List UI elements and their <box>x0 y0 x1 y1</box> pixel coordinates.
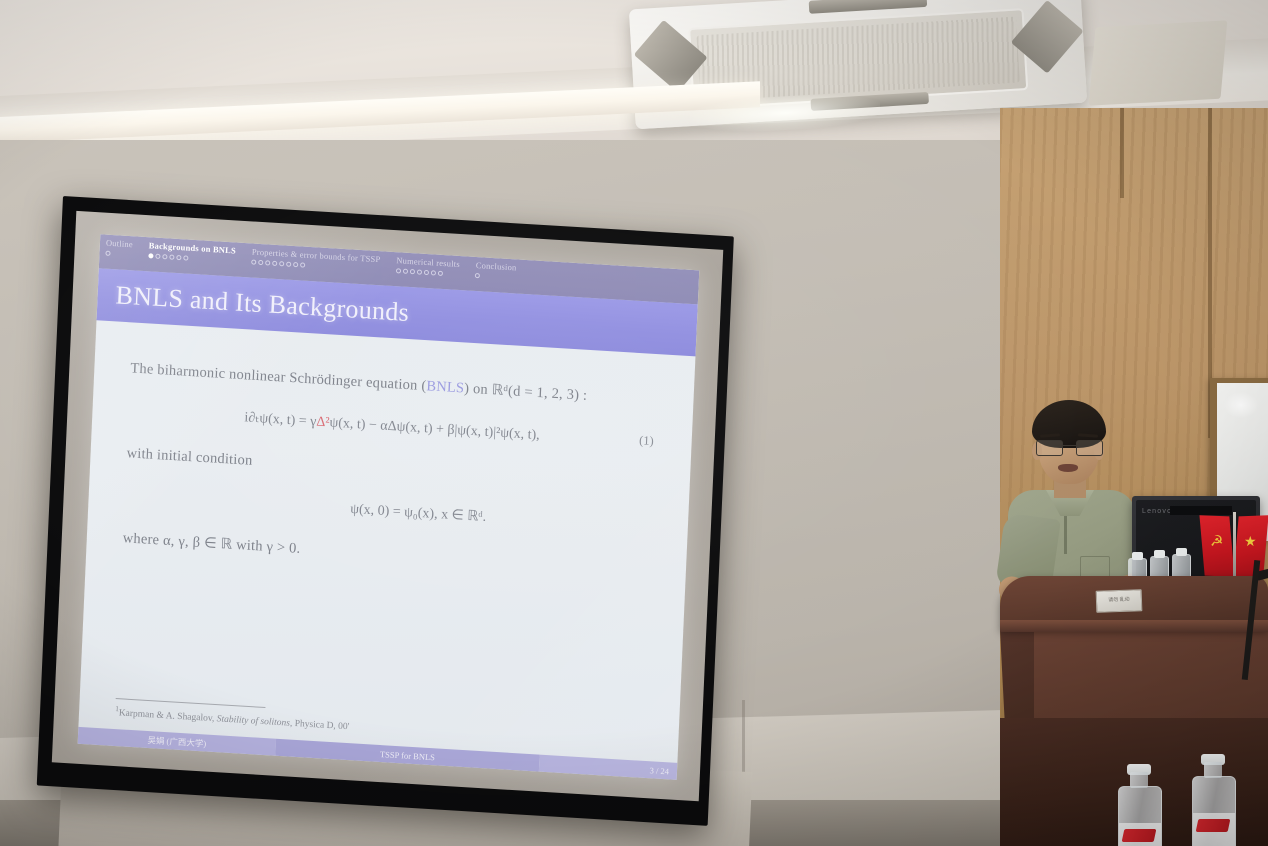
bottle-label <box>1193 813 1235 846</box>
nav-section-label: Conclusion <box>476 260 517 273</box>
hammer-sickle-icon: ☭ <box>1210 534 1223 549</box>
nav-dot[interactable] <box>300 262 305 267</box>
nav-dot[interactable] <box>293 262 298 267</box>
flag-pole <box>1233 512 1236 586</box>
nav-dot[interactable] <box>279 261 284 266</box>
nav-dot[interactable] <box>286 262 291 267</box>
bottle-body <box>1118 786 1162 846</box>
footnote-title: Stability of solitons <box>216 714 290 728</box>
nav-dot[interactable] <box>148 253 153 258</box>
nav-section-outline[interactable]: Outline <box>105 238 133 258</box>
star-icon: ★ <box>1244 534 1257 548</box>
laplacian-squared-highlight: Δ² <box>316 414 330 430</box>
equation-1-left: i∂ₜψ(x, t) = γ <box>244 410 317 429</box>
nav-dot[interactable] <box>396 268 401 273</box>
nav-dot[interactable] <box>417 269 422 274</box>
nav-dot[interactable] <box>431 270 436 275</box>
bottle-label <box>1119 823 1161 846</box>
podium-label-plate: 请勿 乱动 <box>1096 589 1143 613</box>
nav-section-label: Outline <box>106 238 133 251</box>
intro-sentence-post: ) on ℝᵈ(d = 1, 2, 3) : <box>464 380 588 403</box>
equation-1-number: (1) <box>639 433 654 449</box>
nav-dot[interactable] <box>251 259 256 264</box>
equation-1: i∂ₜψ(x, t) = γΔ²ψ(x, t) − αΔψ(x, t) + β|… <box>128 402 656 451</box>
nav-dot[interactable] <box>183 255 188 260</box>
presenter-mouth <box>1058 464 1078 472</box>
footnote-authors: Karpman & A. Shagalov, <box>119 708 215 724</box>
slide-body: The biharmonic nonlinear Schrödinger equ… <box>80 320 696 732</box>
nav-section-numerical[interactable]: Numerical results <box>396 255 460 277</box>
nav-section-conclusion[interactable]: Conclusion <box>475 260 516 280</box>
parameter-conditions: where α, γ, β ∈ ℝ with γ > 0. <box>122 528 650 582</box>
ceiling-access-panel <box>1089 20 1228 105</box>
footer-page-number: 3 / 24 <box>539 755 678 780</box>
equation-1-right: ψ(x, t) − αΔψ(x, t) + β|ψ(x, t)|²ψ(x, t)… <box>329 415 540 443</box>
wood-panel-seam <box>1120 108 1124 198</box>
eyeglasses-icon <box>1036 440 1102 454</box>
nav-dots <box>475 273 480 278</box>
nav-dot[interactable] <box>438 271 443 276</box>
initial-condition-label: with initial condition <box>126 443 654 497</box>
nav-section-backgrounds[interactable]: Backgrounds on BNLS <box>148 240 236 263</box>
nav-dot[interactable] <box>475 273 480 278</box>
projected-slide: Outline Backgrounds on BNLS <box>78 234 700 780</box>
equation-2: ψ(x, 0) = ψ₀(x), x ∈ ℝᵈ. <box>184 490 652 535</box>
podium-edge <box>1000 620 1268 632</box>
footnote-source: , Physica D, 00' <box>290 719 350 733</box>
intro-sentence: The biharmonic nonlinear Schrödinger equ… <box>130 358 658 412</box>
nav-dot[interactable] <box>258 260 263 265</box>
nav-dots <box>148 253 188 260</box>
screen-frame: Outline Backgrounds on BNLS <box>37 196 734 826</box>
monitor-dark-band <box>1170 506 1232 515</box>
nav-dots <box>396 268 443 276</box>
footer-talk-title: TSSP for BNLS <box>275 739 539 772</box>
intro-sentence-pre: The biharmonic nonlinear Schrödinger equ… <box>130 360 427 394</box>
nav-dot[interactable] <box>105 251 110 256</box>
bottle-label-accent <box>1196 819 1231 832</box>
nav-dot[interactable] <box>176 255 181 260</box>
nav-dot[interactable] <box>162 254 167 259</box>
bottle-label-accent <box>1122 829 1157 842</box>
footer-author: 吴娟 (广西大学) <box>78 727 276 756</box>
nav-dot[interactable] <box>410 269 415 274</box>
conference-room-photo: Outline Backgrounds on BNLS <box>0 0 1268 846</box>
nav-dot[interactable] <box>155 254 160 259</box>
monitor-brand-label: Lenovo <box>1142 508 1172 515</box>
nav-dots <box>251 259 305 267</box>
nav-section-properties[interactable]: Properties & error bounds for TSSP <box>251 246 380 272</box>
bnls-highlight: BNLS <box>426 378 465 396</box>
nav-dot[interactable] <box>403 269 408 274</box>
screen-surface: Outline Backgrounds on BNLS <box>52 211 723 801</box>
nav-dot[interactable] <box>265 260 270 265</box>
nav-dot[interactable] <box>272 261 277 266</box>
bottle-body <box>1192 776 1236 846</box>
nav-dots <box>105 251 110 256</box>
nav-dot[interactable] <box>169 255 174 260</box>
nav-dot[interactable] <box>424 270 429 275</box>
whiteboard-glare <box>1224 392 1258 418</box>
projection-screen[interactable]: Outline Backgrounds on BNLS <box>37 196 734 826</box>
slide-title: BNLS and Its Backgrounds <box>115 280 410 328</box>
